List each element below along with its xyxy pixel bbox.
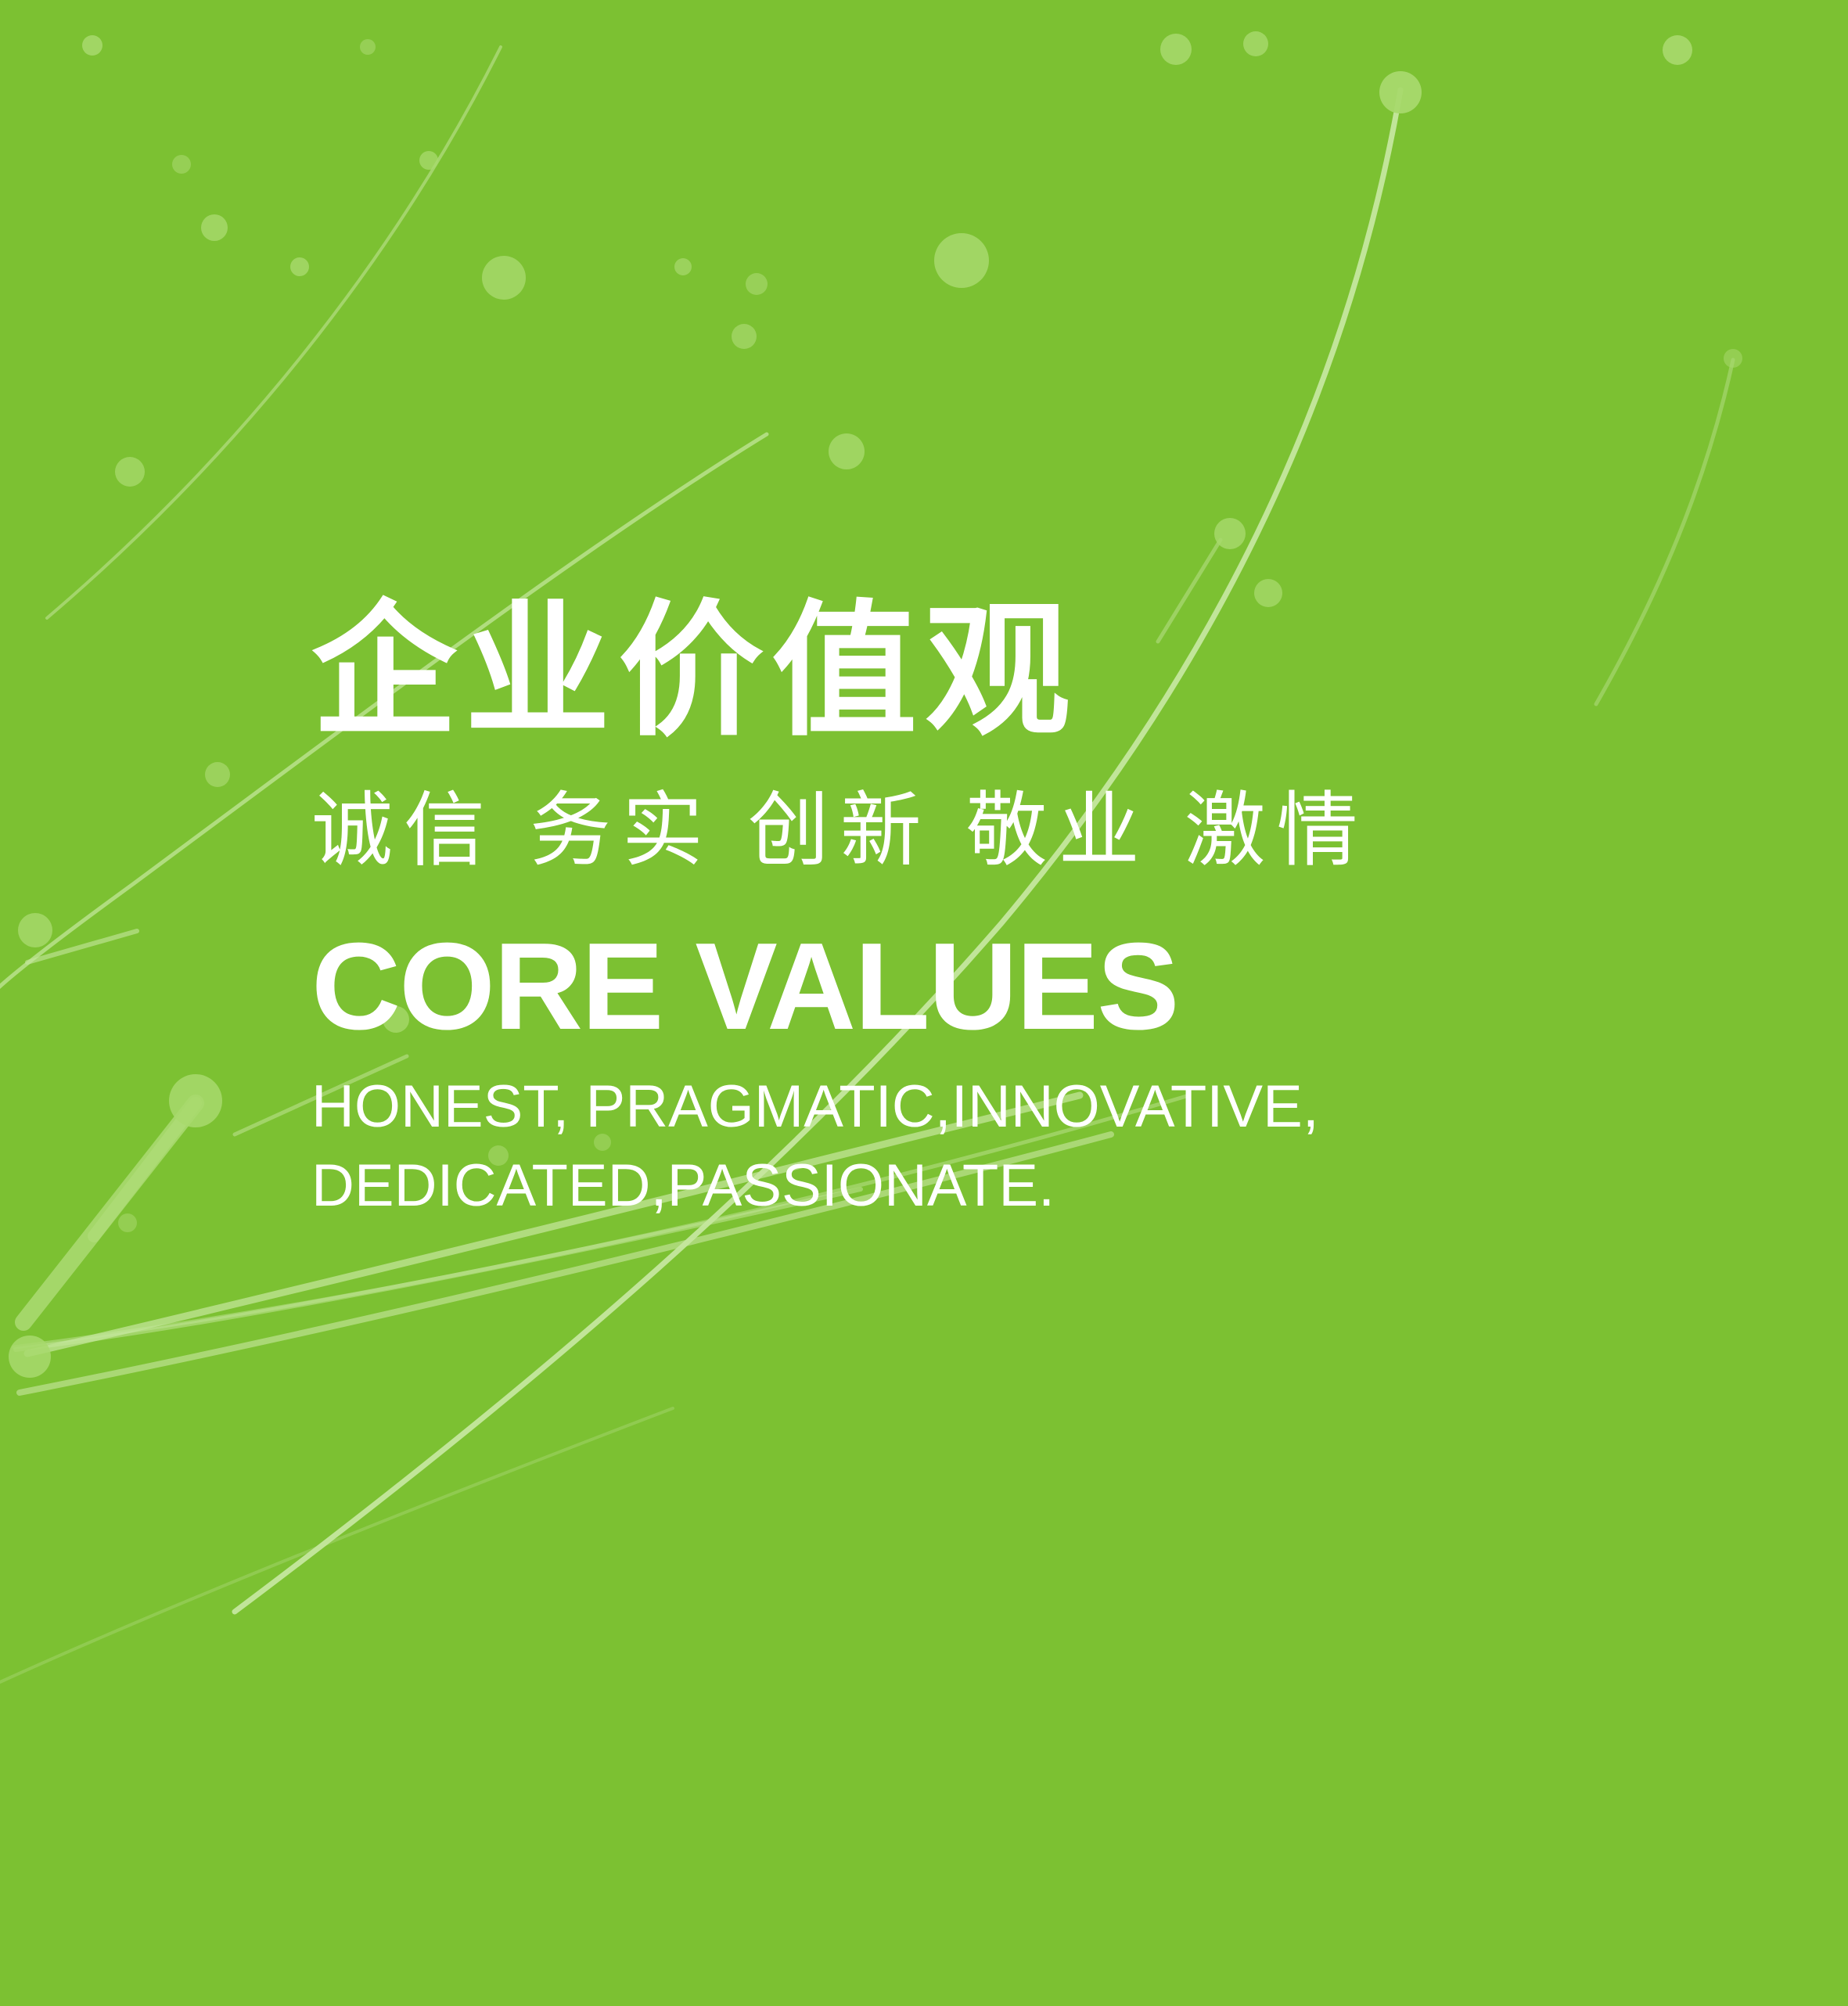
text-block: 企业价值观 诚信 务实 创新 敬业 激情 CORE VALUES HONEST,…	[311, 595, 1681, 1225]
english-subtitle-line-2: DEDICATED,PASSIONATE.	[311, 1147, 1681, 1225]
core-values-poster: 企业价值观 诚信 务实 创新 敬业 激情 CORE VALUES HONEST,…	[0, 0, 1848, 2006]
english-subtitle: HONEST, PRAGMATIC,INNOVATIVE, DEDICATED,…	[311, 1068, 1681, 1225]
english-subtitle-line-1: HONEST, PRAGMATIC,INNOVATIVE,	[311, 1068, 1681, 1146]
chinese-subtitle: 诚信 务实 创新 敬业 激情	[311, 780, 1681, 882]
english-title: CORE VALUES	[311, 922, 1681, 1051]
chinese-title: 企业价值观	[311, 595, 1681, 749]
